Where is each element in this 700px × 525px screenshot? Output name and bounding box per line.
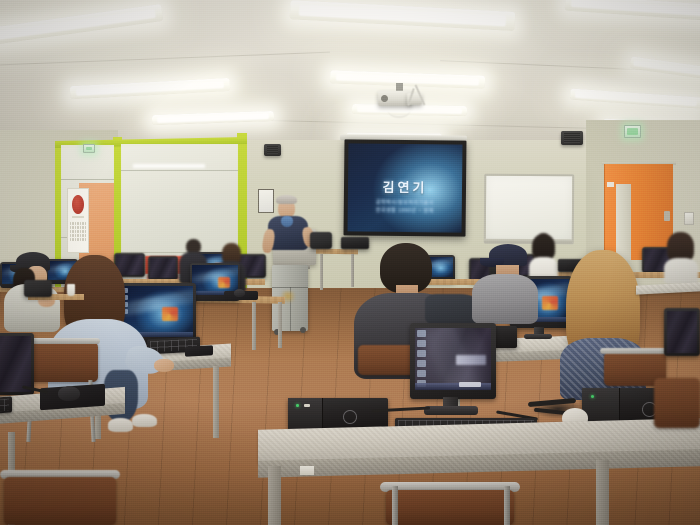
ceiling-projector: [378, 89, 424, 113]
chair[interactable]: [654, 378, 700, 428]
student-shoe: [108, 418, 133, 432]
student-hand: [154, 359, 174, 372]
pc-tower: [288, 398, 388, 430]
student-back-right: [664, 232, 698, 280]
wall-poster: [67, 188, 89, 253]
chair-leg: [392, 486, 398, 525]
monitor: [664, 308, 700, 356]
cabinet-caster: [300, 327, 306, 333]
desk-leg: [213, 366, 219, 438]
projector-lens: [381, 95, 388, 102]
light-switch[interactable]: [684, 212, 694, 225]
desk-leg: [252, 302, 256, 350]
mouse: [234, 289, 245, 297]
paper-cup: [67, 284, 75, 296]
monitor-stand-base: [424, 406, 478, 415]
chair[interactable]: [386, 490, 514, 525]
exit-sign: [624, 125, 641, 138]
door-sign: [607, 182, 614, 187]
student-torso: [472, 274, 538, 324]
desk-label: [300, 466, 314, 475]
door-handle[interactable]: [664, 211, 670, 221]
chair-frame: [600, 348, 670, 354]
desk-leg: [596, 460, 609, 525]
monitor: [410, 323, 496, 399]
projection-screen: 김연기 공학박사/정보처리기술사 한국생활 1990년 ~ 현재: [344, 139, 467, 236]
instructor-collar: [281, 216, 293, 227]
slide-subtitle-2: 한국생활 1990년 ~ 현재: [348, 206, 462, 214]
teacher-table-leg: [320, 254, 323, 290]
wall-speaker-left: [264, 144, 281, 156]
slide-subtitle-1: 공학박사/정보처리기술사: [348, 198, 462, 206]
orange-door[interactable]: [604, 164, 673, 260]
desk-leg: [278, 302, 282, 348]
chair-leg: [504, 486, 510, 525]
mouse-pad: [185, 345, 213, 356]
exit-sign: [83, 144, 95, 153]
projection-screen-surface: 김연기 공학박사/정보처리기술사 한국생활 1990년 ~ 현재: [348, 143, 463, 232]
instructor-hair: [276, 195, 297, 204]
door-jamb: [616, 184, 631, 260]
wall-speaker-right: [561, 131, 583, 145]
monitor: [24, 280, 52, 297]
student-shoe: [132, 414, 157, 427]
classroom-photo: 김연기 공학박사/정보처리기술사 한국생활 1990년 ~ 현재: [0, 0, 700, 525]
student-right-cap: [472, 244, 540, 320]
monitor: [148, 256, 178, 280]
desk-leg: [268, 466, 281, 525]
chair[interactable]: [4, 477, 116, 525]
monitor: [310, 232, 332, 249]
mouse: [58, 386, 80, 401]
slide-title: 김연기: [348, 176, 462, 196]
monitor-stand-base: [524, 334, 552, 339]
instructor: [262, 193, 318, 267]
